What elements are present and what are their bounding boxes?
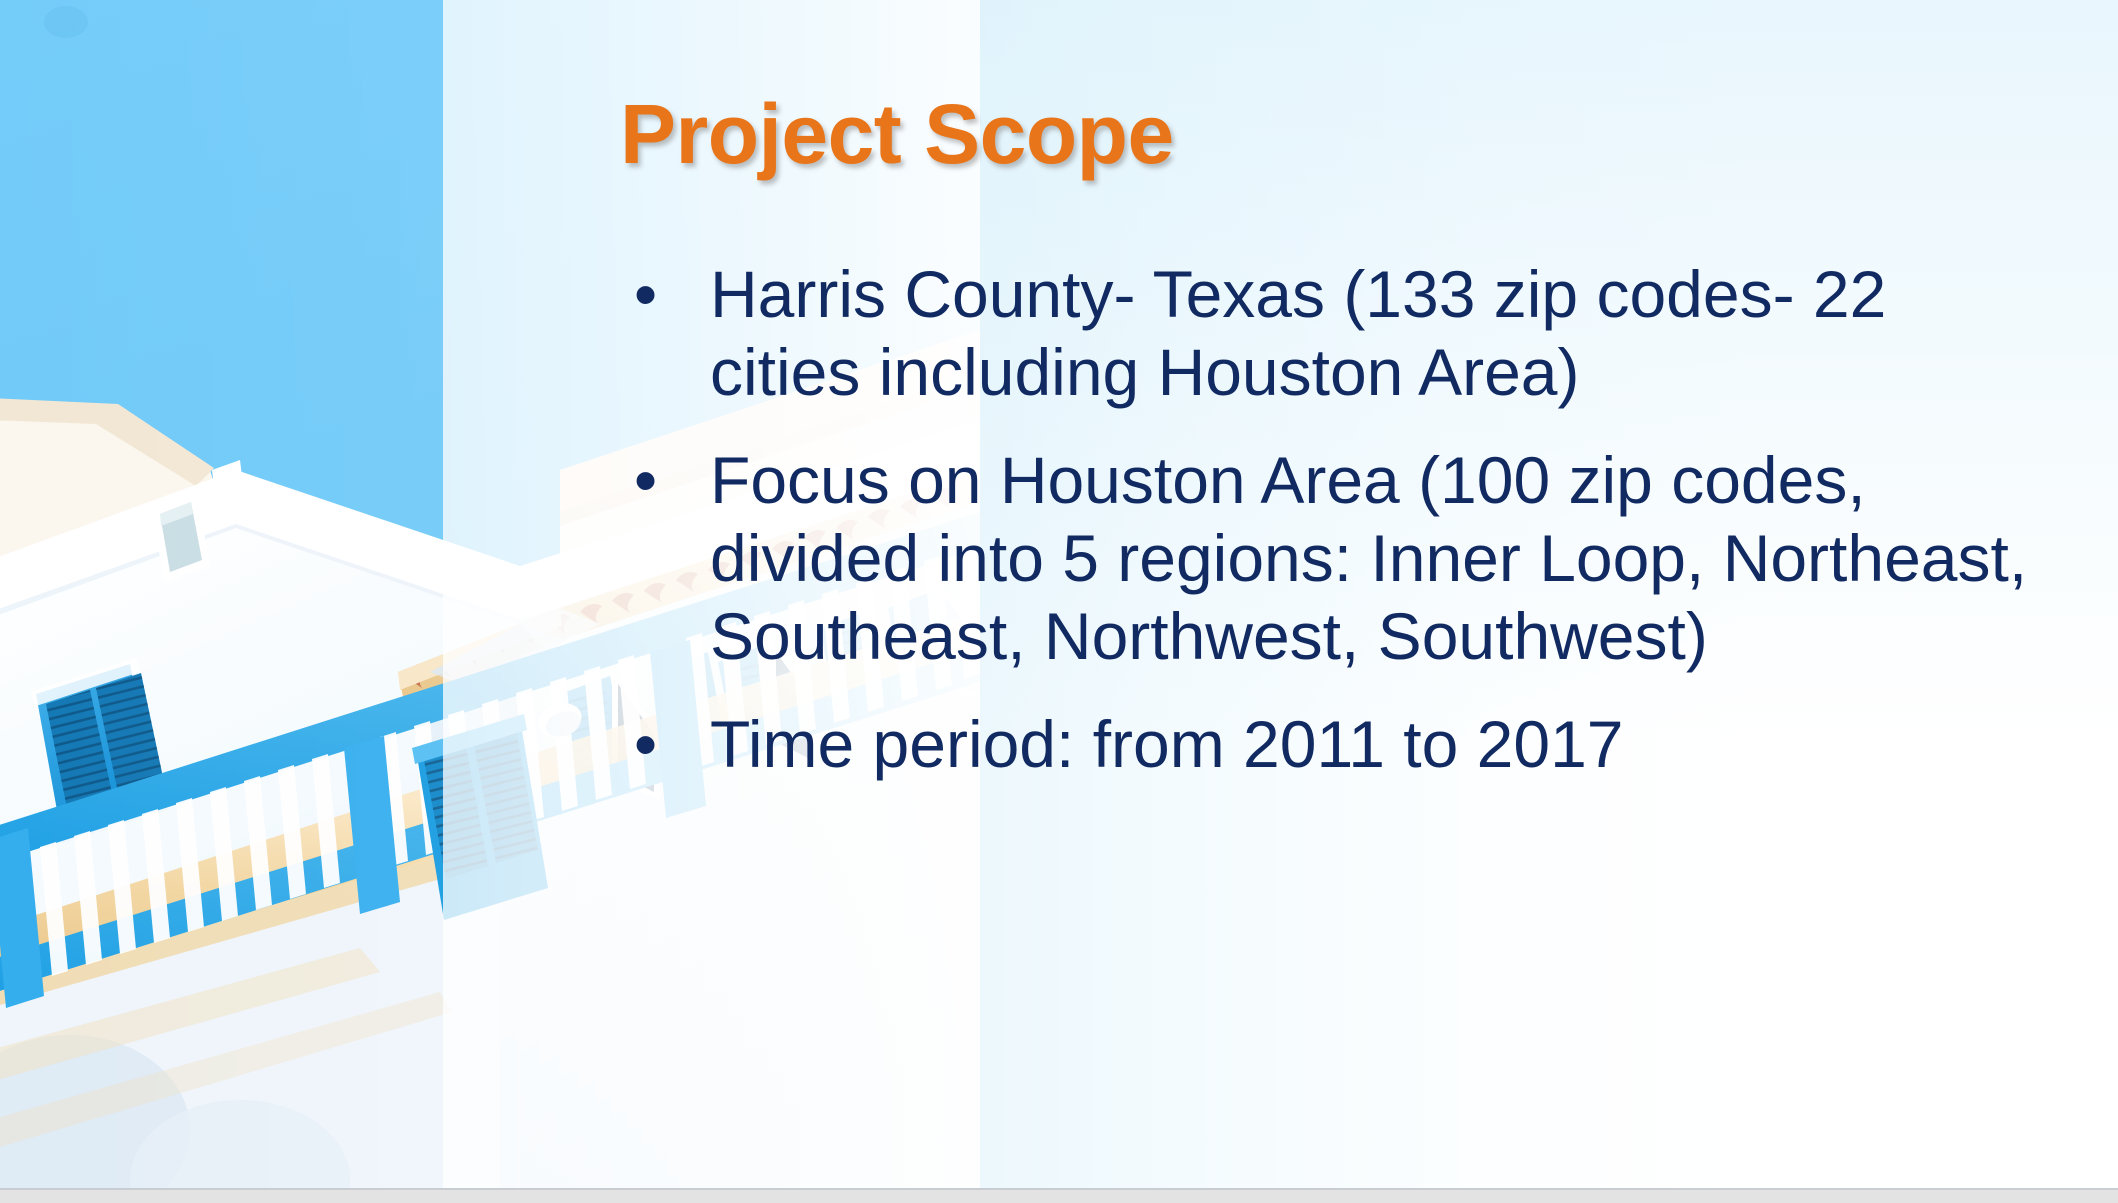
bullet-text: Time period: from 2011 to 2017 [710, 706, 2040, 784]
list-item: • Focus on Houston Area (100 zip codes, … [620, 442, 2040, 676]
bullet-text: Focus on Houston Area (100 zip codes, di… [710, 442, 2040, 676]
bullet-list: • Harris County- Texas (133 zip codes- 2… [620, 256, 2040, 783]
footer-bar [0, 1190, 2118, 1203]
list-item: • Harris County- Texas (133 zip codes- 2… [620, 256, 2040, 412]
bullet-point-icon: • [634, 442, 657, 520]
list-item: • Time period: from 2011 to 2017 [620, 706, 2040, 784]
slide-canvas: Project Scope • Harris County- Texas (13… [0, 0, 2118, 1203]
page-title: Project Scope [620, 90, 2040, 178]
slide-content: Project Scope • Harris County- Texas (13… [620, 90, 2040, 813]
bullet-point-icon: • [634, 256, 657, 334]
bullet-point-icon: • [634, 706, 657, 784]
bullet-text: Harris County- Texas (133 zip codes- 22 … [710, 256, 2040, 412]
